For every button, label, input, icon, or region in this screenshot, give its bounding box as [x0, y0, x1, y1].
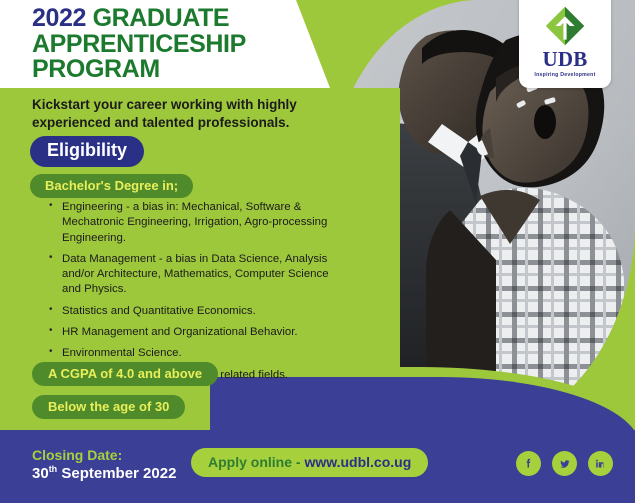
- list-item: Data Management - a bias in Data Science…: [48, 252, 338, 298]
- cgpa-badge: A CGPA of 4.0 and above: [32, 362, 218, 386]
- list-item: Statistics and Quantitative Economics.: [48, 304, 338, 319]
- udb-diamond-icon: [545, 6, 585, 46]
- closing-day: 30: [32, 465, 49, 482]
- udb-logo: UDB Inspiring Development: [519, 0, 611, 88]
- list-item: HR Management and Organizational Behavio…: [48, 325, 338, 340]
- closing-date-label: Closing Date:: [32, 447, 176, 464]
- page-title: 2022 GRADUATE APPRENTICESHIP PROGRAM: [32, 6, 246, 83]
- social-links: [516, 451, 613, 476]
- title-line-2: APPRENTICESHIP: [32, 32, 246, 58]
- twitter-icon[interactable]: [552, 451, 577, 476]
- eligibility-badge: Eligibility: [30, 136, 144, 167]
- age-limit-badge: Below the age of 30: [32, 395, 185, 419]
- closing-date-value: 30th September 2022: [32, 464, 176, 483]
- bachelors-degree-badge: Bachelor's Degree in;: [30, 174, 193, 198]
- closing-month-year: September 2022: [57, 465, 176, 482]
- title-graduate: GRADUATE: [93, 4, 230, 32]
- facebook-icon[interactable]: [516, 451, 541, 476]
- closing-day-suffix: th: [49, 464, 58, 474]
- apply-button-url: www.udbl.co.ug: [304, 454, 411, 470]
- linkedin-icon[interactable]: [588, 451, 613, 476]
- apply-button-prefix: Apply online -: [208, 454, 304, 470]
- tagline: Kickstart your career working with highl…: [32, 96, 332, 132]
- title-year: 2022: [32, 4, 86, 32]
- title-line-3: PROGRAM: [32, 57, 246, 83]
- list-item: Environmental Science.: [48, 346, 338, 361]
- eligibility-bullet-list: Engineering - a bias in: Mechanical, Sof…: [48, 200, 338, 389]
- title-line-1: 2022 GRADUATE: [32, 6, 246, 32]
- footer-bar: Closing Date: 30th September 2022 Apply …: [0, 430, 635, 503]
- udb-tagline: Inspiring Development: [534, 72, 595, 78]
- apply-online-button[interactable]: Apply online - www.udbl.co.ug: [191, 448, 428, 477]
- udb-wordmark: UDB: [543, 49, 588, 70]
- list-item: Engineering - a bias in: Mechanical, Sof…: [48, 200, 338, 246]
- poster-root: 2022 GRADUATE APPRENTICESHIP PROGRAM Kic…: [0, 0, 635, 503]
- closing-date-block: Closing Date: 30th September 2022: [32, 447, 176, 483]
